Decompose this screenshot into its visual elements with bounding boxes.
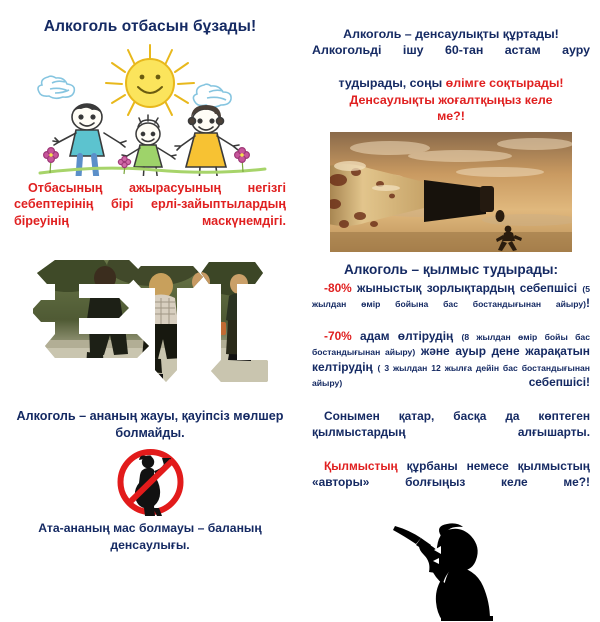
stat-sexual-assault: -80% жыныстық зорлықтардың себепшісі (5 … bbox=[312, 281, 590, 327]
health-line-3-red: өлімге соқтырады! bbox=[446, 76, 564, 90]
divorce-paragraph: Отбасының ажырасуының негізгі себептерін… bbox=[14, 180, 286, 246]
mother-caption: Алкоголь – ананың жауы, қауіпсіз мөлшер … bbox=[16, 408, 284, 442]
health-line-5: ме?! bbox=[312, 108, 590, 124]
parents-caption: Ата-ананың мас болмауы – баланың денсаул… bbox=[16, 520, 284, 553]
crime-heading: Алкоголь – қылмыс тудырады: bbox=[310, 262, 592, 278]
stat2-tail: себепшісі! bbox=[342, 375, 590, 389]
no-drinking-pregnant-icon bbox=[103, 448, 198, 516]
stat1-text: жыныстық зорлықтардың себепшісі bbox=[352, 281, 583, 295]
bottle-photo bbox=[330, 132, 572, 252]
page-title: Алкоголь отбасын бұзады! bbox=[12, 18, 288, 37]
health-line-1: Алкоголь – денсаулықты құртады! bbox=[312, 26, 590, 42]
health-line-4: Денсаулықты жоғалтқыңыз келе bbox=[312, 92, 590, 108]
man-with-knife-icon bbox=[381, 510, 521, 622]
health-line-2: Алкогольді ішу 60-тан астам ауру bbox=[312, 42, 590, 75]
stat-homicide: -70% адам өлтірудің (8 жылдан өмір бойы … bbox=[312, 329, 590, 406]
stat2-text: адам өлтірудің bbox=[352, 329, 462, 343]
masked-letters-photo bbox=[33, 252, 268, 402]
left-column: Алкоголь отбасын бұзады! bbox=[0, 0, 300, 600]
victim-or-author-text: Қылмыстың құрбаны немесе қылмыстың «авто… bbox=[312, 459, 590, 506]
poster-root: Алкоголь отбасын бұзады! bbox=[0, 0, 600, 600]
victim-red-word: Қылмыстың bbox=[324, 459, 398, 473]
stat1-percent: -80% bbox=[324, 281, 352, 295]
stat1-tail: ! bbox=[586, 296, 590, 310]
family-drawing-icon bbox=[28, 41, 273, 176]
health-line-3: тудырады, соңы өлімге соқтырады! bbox=[312, 75, 590, 91]
other-crimes-text: Сонымен қатар, басқа да көптеген қылмыст… bbox=[312, 409, 590, 456]
stat2-percent: -70% bbox=[324, 329, 352, 343]
health-line-3-navy: тудырады, соңы bbox=[338, 76, 445, 90]
health-warning-block: Алкоголь – денсаулықты құртады! Алкоголь… bbox=[312, 26, 590, 124]
right-column: Алкоголь – денсаулықты құртады! Алкоголь… bbox=[300, 0, 600, 600]
